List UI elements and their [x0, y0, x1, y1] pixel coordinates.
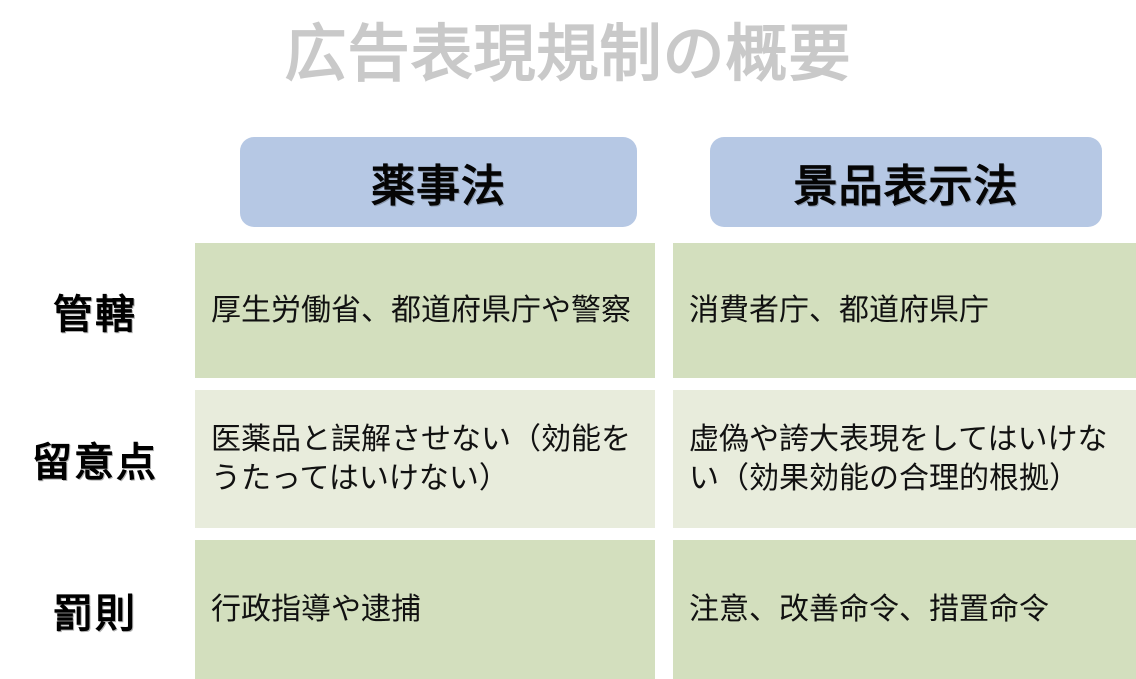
table-cell: 医薬品と誤解させない（効能をうたってはいけない） — [195, 390, 655, 528]
row-label-ryuiten: 留意点 — [0, 390, 190, 528]
table-cell: 消費者庁、都道府県庁 — [673, 243, 1136, 378]
column-header-keihinhyojiho: 景品表示法 — [710, 137, 1102, 227]
table-cell-text: 虚偽や誇大表現をしてはいけない（効果効能の合理的根拠） — [689, 420, 1120, 498]
table-cell: 厚生労働省、都道府県庁や警察 — [195, 243, 655, 378]
row-label-kankatsu: 管轄 — [0, 243, 190, 378]
page-title: 広告表現規制の概要 — [0, 22, 1136, 87]
table-cell-text: 注意、改善命令、措置命令 — [689, 590, 1120, 629]
table-cell: 虚偽や誇大表現をしてはいけない（効果効能の合理的根拠） — [673, 390, 1136, 528]
row-label-text: 罰則 — [53, 581, 137, 639]
column-header-yakujiho: 薬事法 — [240, 137, 637, 227]
row-label-text: 留意点 — [32, 430, 158, 488]
table-cell-text: 厚生労働省、都道府県庁や警察 — [211, 291, 639, 330]
table-cell: 注意、改善命令、措置命令 — [673, 540, 1136, 679]
table-cell-text: 行政指導や逮捕 — [211, 590, 639, 629]
table-cell-text: 消費者庁、都道府県庁 — [689, 291, 1120, 330]
row-label-bassoku: 罰則 — [0, 540, 190, 679]
table-cell-text: 医薬品と誤解させない（効能をうたってはいけない） — [211, 420, 639, 498]
slide-canvas: 広告表現規制の概要 薬事法 景品表示法 管轄 留意点 罰則 厚生労働省、都道府県… — [0, 0, 1136, 679]
column-header-label: 薬事法 — [371, 150, 506, 214]
row-label-text: 管轄 — [53, 282, 137, 340]
table-cell: 行政指導や逮捕 — [195, 540, 655, 679]
column-header-label: 景品表示法 — [794, 150, 1019, 214]
